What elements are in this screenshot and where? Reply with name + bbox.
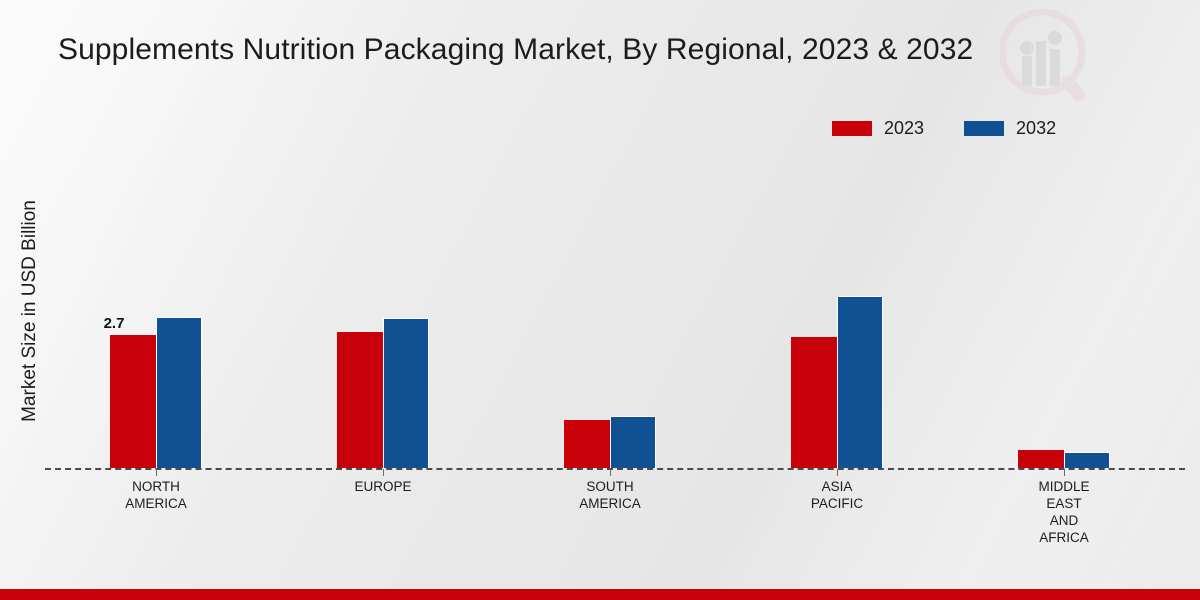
- bar-2032-south-america[interactable]: [610, 416, 656, 468]
- x-axis-tick: [383, 469, 384, 476]
- bar-2023-north-america[interactable]: [110, 335, 156, 468]
- chart-canvas: Supplements Nutrition Packaging Market, …: [0, 0, 1200, 600]
- bar-2032-north-america[interactable]: [156, 317, 202, 468]
- x-axis-label-north-america: NORTH AMERICA: [76, 478, 236, 512]
- bar-2023-asia-pacific[interactable]: [791, 337, 837, 468]
- bar-2023-europe[interactable]: [337, 332, 383, 468]
- x-axis-tick: [1064, 469, 1065, 476]
- bar-data-label: 2.7: [91, 315, 137, 332]
- bar-2023-middle-east-and-africa[interactable]: [1018, 450, 1064, 468]
- x-axis-tick: [156, 469, 157, 476]
- bar-2032-asia-pacific[interactable]: [837, 296, 883, 468]
- plot-area: 2.7 NORTH AMERICAEUROPESOUTH AMERICAASIA…: [0, 0, 1200, 600]
- bar-2032-middle-east-and-africa[interactable]: [1064, 452, 1110, 468]
- x-axis-baseline: [45, 468, 1185, 470]
- bottom-accent-band: [0, 589, 1200, 600]
- x-axis-label-south-america: SOUTH AMERICA: [530, 478, 690, 512]
- x-axis-tick: [610, 469, 611, 476]
- bar-2032-europe[interactable]: [383, 318, 429, 468]
- x-axis-tick: [837, 469, 838, 476]
- x-axis-label-europe: EUROPE: [303, 478, 463, 495]
- x-axis-label-middle-east-and-africa: MIDDLE EAST AND AFRICA: [984, 478, 1144, 546]
- bar-2023-south-america[interactable]: [564, 420, 610, 468]
- x-axis-label-asia-pacific: ASIA PACIFIC: [757, 478, 917, 512]
